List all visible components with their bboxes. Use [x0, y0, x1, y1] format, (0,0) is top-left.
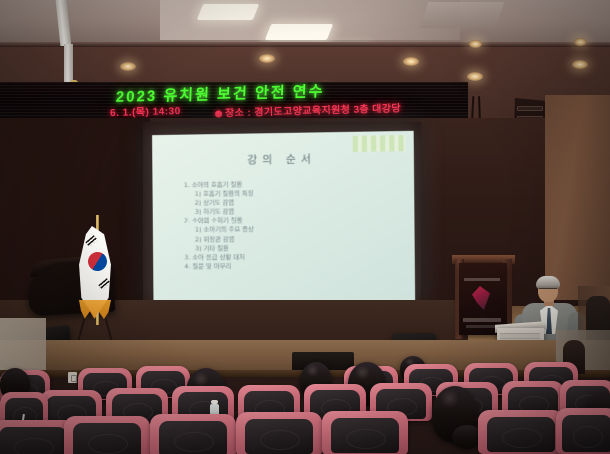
- ceiling-edge-trim: [0, 42, 610, 47]
- downlight-icon: [259, 54, 275, 63]
- bullet-dot-icon: [215, 110, 222, 117]
- downlight-icon: [572, 60, 588, 69]
- banner-text-line: [463, 318, 501, 322]
- lecture-hall-photo: 2023 유치원 보건 안전 연수 6. 1.(목) 14:30 장소 : 경기…: [0, 0, 610, 454]
- seat: [236, 412, 322, 454]
- slide-title: 강의 순서: [152, 149, 414, 169]
- seat: [322, 411, 408, 454]
- led-sign-datetime: 6. 1.(목) 14:30: [110, 102, 181, 119]
- seat: [150, 414, 236, 454]
- ceiling-light-strip: [197, 4, 259, 20]
- downlight-icon: [403, 57, 419, 66]
- slide-agenda-list: 1. 소아의 호흡기 질환1) 호흡기 질환의 특징2) 상기도 감염3) 하기…: [184, 179, 395, 272]
- glasses-icon: [539, 288, 557, 293]
- ceiling-light-strip: [265, 24, 333, 40]
- banner-text-line: [464, 278, 500, 281]
- wall-outlet-icon: [68, 372, 77, 383]
- downlight-icon: [574, 38, 587, 46]
- right-wall-wood-panel: [545, 95, 610, 300]
- slide-agenda-item: 4. 질문 및 마무리: [184, 261, 394, 271]
- banner-text-line: [466, 325, 496, 328]
- seat: [64, 416, 150, 454]
- downlight-icon: [467, 72, 483, 81]
- downlight-icon: [469, 40, 482, 48]
- led-display-board: 2023 유치원 보건 안전 연수 6. 1.(목) 14:30 장소 : 경기…: [0, 82, 468, 122]
- projection-screen: 강의 순서 1. 소아의 호흡기 질환1) 호흡기 질환의 특징2) 상기도 감…: [152, 131, 415, 301]
- seat: [556, 408, 610, 454]
- ceiling-air-grille: [420, 2, 504, 28]
- led-sign-venue-text: 장소 : 경기도고양교육지원청 3층 대강당: [225, 103, 401, 119]
- bottle-cap: [211, 400, 218, 404]
- downlight-icon: [120, 62, 136, 71]
- seat: [478, 410, 564, 454]
